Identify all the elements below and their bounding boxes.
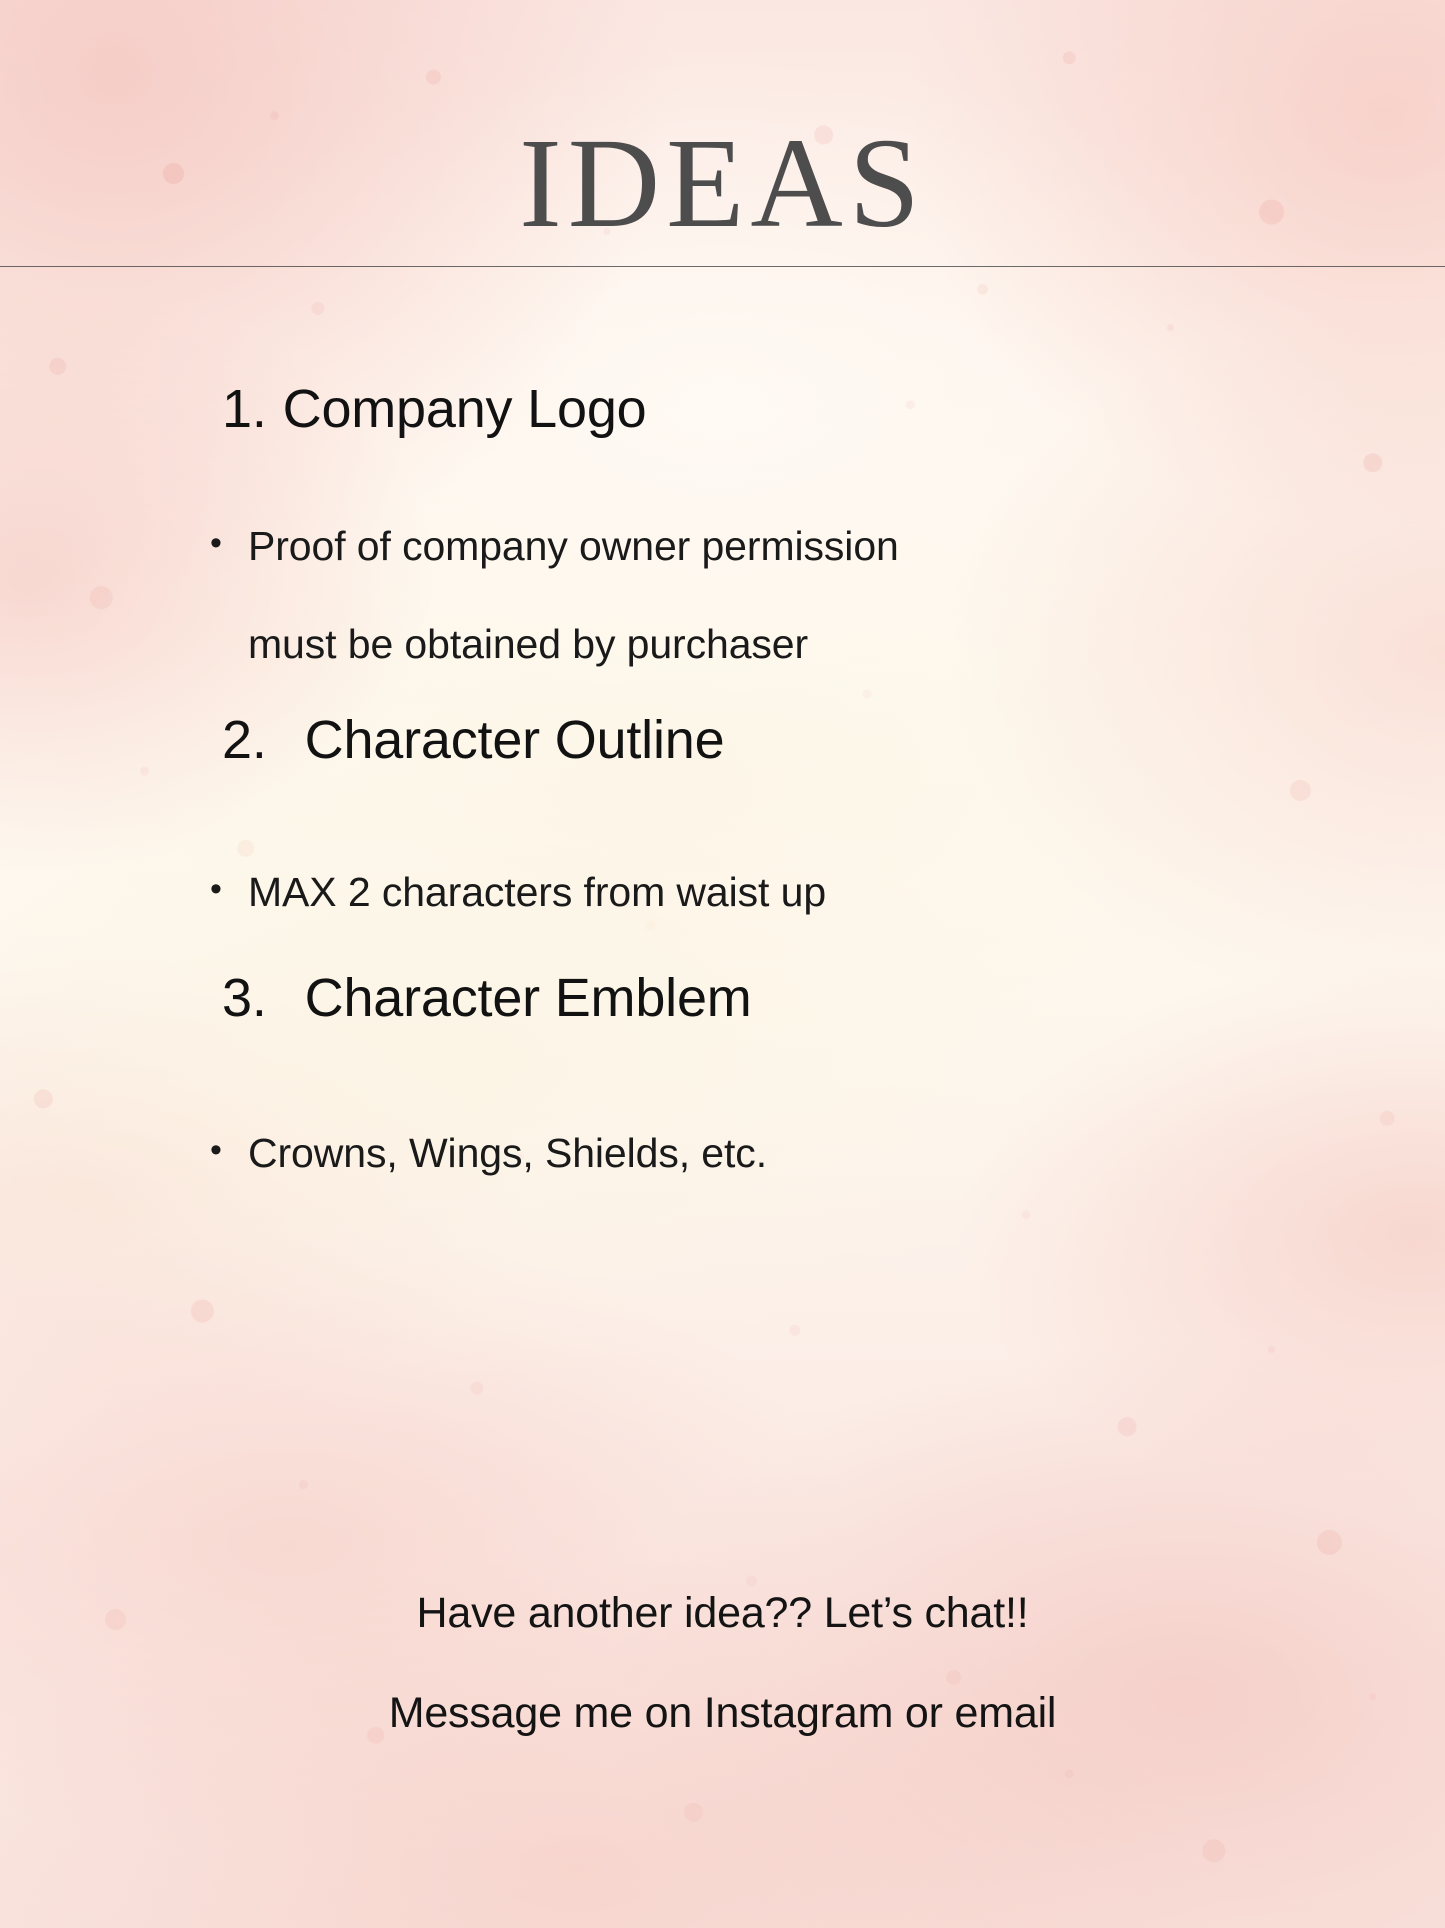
footer-line-1: Have another idea?? Let’s chat!! [0,1592,1445,1635]
bullet-text-3: Crowns, Wings, Shields, etc. [248,1133,1008,1174]
footer-message: Have another idea?? Let’s chat!! Message… [0,1592,1445,1735]
page-title: IDEAS [0,118,1445,249]
list-item-bullet-1: • Proof of company owner permission must… [0,526,1445,665]
list-item-heading-2: 2. Character Outline [0,709,1445,773]
item-label-3: Character Emblem [305,967,752,1031]
list-item-heading-3: 3. Character Emblem [0,967,1445,1031]
header-divider [0,266,1445,267]
bullet-text-1: Proof of company owner permission must b… [248,526,1008,665]
ideas-list: 1. Company Logo • Proof of company owner… [0,378,1445,1174]
bullet-dot-icon: • [210,526,248,562]
item-number-2: 2. [222,709,267,773]
bullet-text-2: MAX 2 characters from waist up [248,872,1008,913]
bullet-dot-icon: • [210,872,248,908]
item-label-1: Company Logo [283,378,647,442]
bullet-dot-icon: • [210,1133,248,1169]
footer-line-2: Message me on Instagram or email [0,1692,1445,1735]
bullet-text-1-line2: must be obtained by purchaser [248,624,1008,665]
item-label-2: Character Outline [305,709,725,773]
list-item-bullet-3: • Crowns, Wings, Shields, etc. [0,1133,1445,1174]
list-item-bullet-2: • MAX 2 characters from waist up [0,872,1445,913]
item-number-3: 3. [222,967,267,1031]
item-number-1: 1. [222,378,267,442]
list-item-heading-1: 1. Company Logo [0,378,1445,442]
poster-canvas: IDEAS 1. Company Logo • Proof of company… [0,0,1445,1928]
bullet-text-1-line1: Proof of company owner permission [248,523,899,569]
